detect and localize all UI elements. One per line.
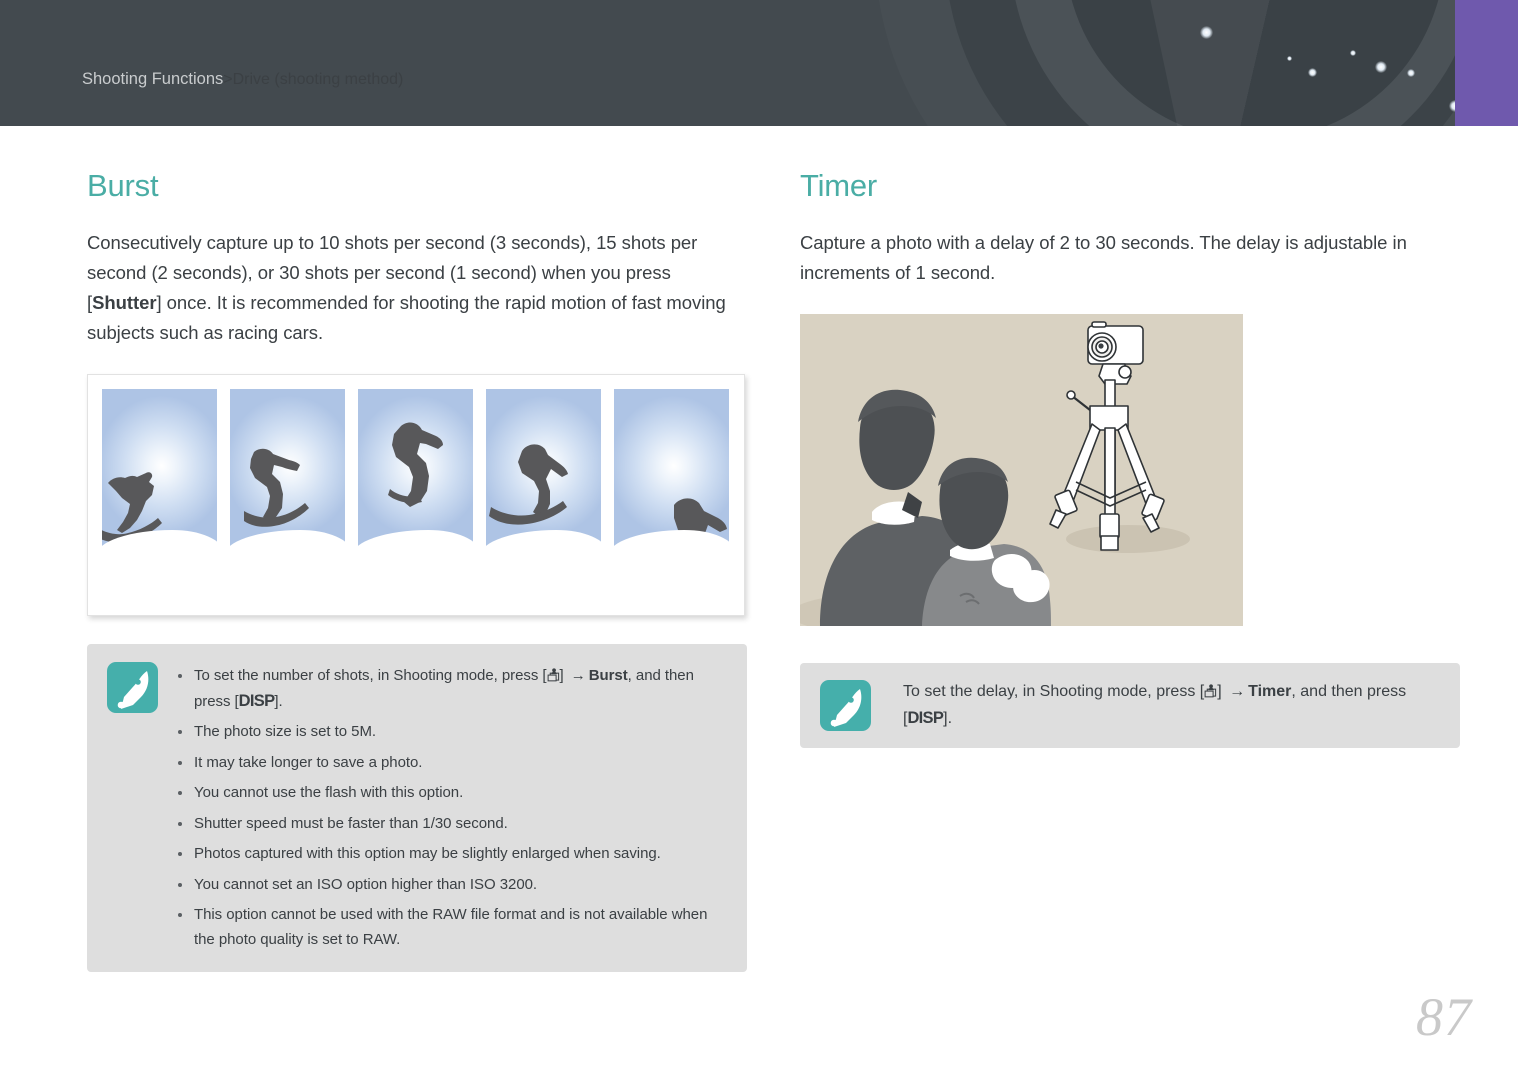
burst-heading: Burst: [87, 168, 747, 204]
burst-description: Consecutively capture up to 10 shots per…: [87, 228, 747, 348]
note-text: ].: [943, 710, 952, 727]
burst-note-box: To set the number of shots, in Shooting …: [87, 644, 747, 972]
page-header: Shooting Functions > Drive (shooting met…: [0, 0, 1518, 126]
note-item: This option cannot be used with the RAW …: [174, 903, 725, 952]
shutter-keyword: Shutter: [92, 292, 156, 313]
page-title: Drive (shooting method): [233, 71, 404, 89]
note-item: To set the number of shots, in Shooting …: [174, 664, 725, 714]
disp-key-label: DISP: [907, 709, 943, 727]
pen-nib-icon: [107, 662, 158, 713]
timer-heading: Timer: [800, 168, 1460, 204]
burst-keyword: Burst: [589, 667, 628, 684]
pen-nib-icon: [820, 680, 871, 731]
burst-sequence-image: [87, 374, 745, 616]
note-text: ].: [274, 693, 282, 710]
burst-frame-2: [230, 389, 345, 564]
drive-mode-icon: [547, 668, 560, 682]
note-text: To set the delay, in Shooting mode, pres…: [903, 683, 1204, 700]
page-content: Burst Consecutively capture up to 10 sho…: [0, 126, 1518, 1075]
arrow-glyph: →: [1226, 683, 1248, 700]
timer-keyword: Timer: [1248, 683, 1291, 700]
burst-note-list-wrapper: To set the number of shots, in Shooting …: [174, 662, 725, 952]
burst-filmstrip: [102, 389, 729, 564]
breadcrumb-parent[interactable]: Shooting Functions: [82, 70, 223, 89]
timer-illustration: [800, 314, 1243, 626]
note-text: ]: [1217, 683, 1226, 700]
arrow-glyph: →: [568, 667, 589, 684]
timer-section: Timer Capture a photo with a delay of 2 …: [800, 168, 1460, 748]
burst-desc-part-b: ] once. It is recommended for shooting t…: [87, 292, 726, 343]
header-accent-bar: [1455, 0, 1518, 126]
burst-frame-3: [358, 389, 473, 564]
breadcrumb-separator: >: [223, 71, 232, 89]
header-decorative-artwork: [835, 0, 1455, 126]
breadcrumb: Shooting Functions > Drive (shooting met…: [82, 70, 403, 89]
timer-description: Capture a photo with a delay of 2 to 30 …: [800, 228, 1460, 288]
burst-frame-5: [614, 389, 729, 564]
note-item: You cannot set an ISO option higher than…: [174, 873, 725, 898]
burst-frame-4: [486, 389, 601, 564]
note-item: Photos captured with this option may be …: [174, 842, 725, 867]
note-text: To set the number of shots, in Shooting …: [194, 667, 547, 684]
note-text: ]: [560, 667, 568, 684]
page-number: 87: [1416, 986, 1472, 1048]
burst-section: Burst Consecutively capture up to 10 sho…: [87, 168, 747, 972]
note-item: The photo size is set to 5M.: [174, 720, 725, 745]
timer-note-text-wrapper: To set the delay, in Shooting mode, pres…: [887, 679, 1438, 732]
burst-frame-1: [102, 389, 217, 564]
note-item: Shutter speed must be faster than 1/30 s…: [174, 812, 725, 837]
drive-mode-icon: [1204, 684, 1217, 698]
note-item: It may take longer to save a photo.: [174, 751, 725, 776]
note-item: You cannot use the flash with this optio…: [174, 781, 725, 806]
burst-note-list: To set the number of shots, in Shooting …: [174, 664, 725, 952]
timer-note-box: To set the delay, in Shooting mode, pres…: [800, 663, 1460, 748]
disp-key-label: DISP: [239, 692, 275, 710]
